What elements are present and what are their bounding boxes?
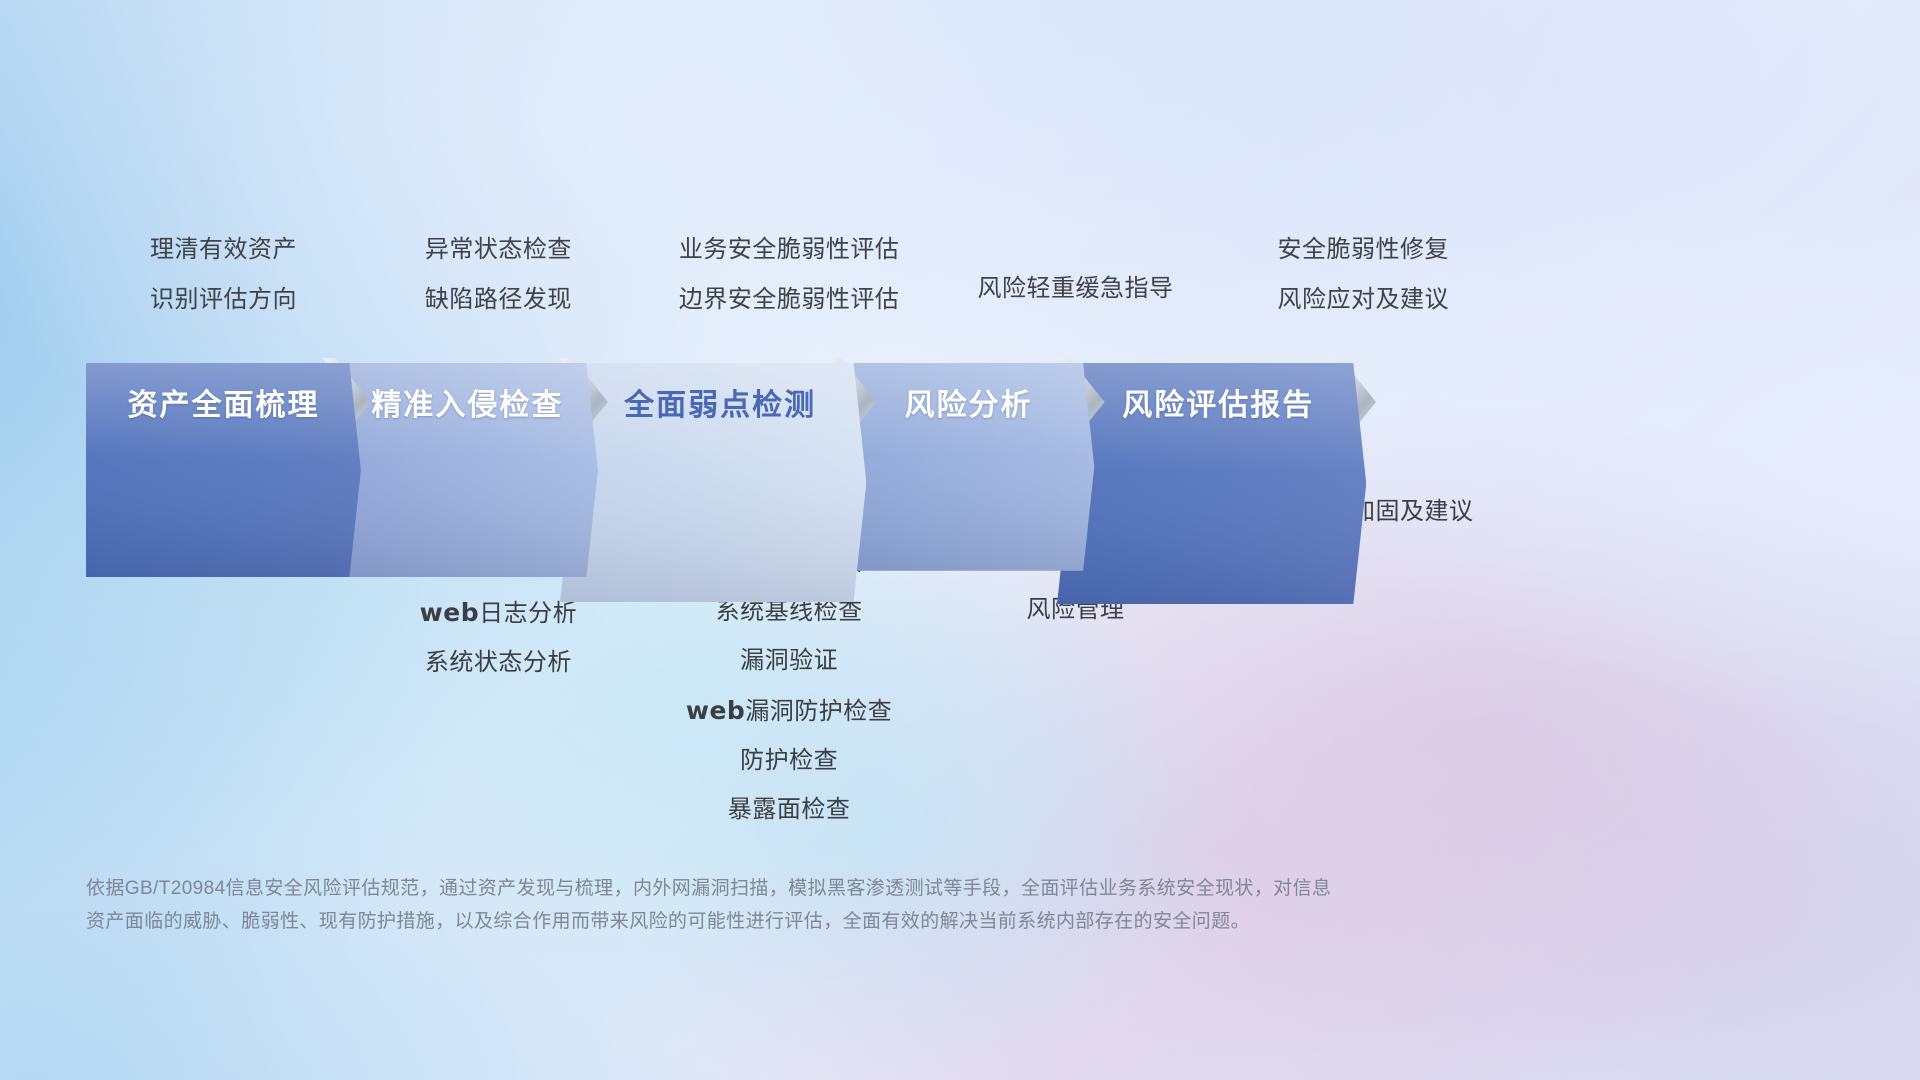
process-arrow-band: 资产全面梳理精准入侵检查全面弱点检测风险分析风险评估报告 (86, 363, 1518, 441)
bottom-list-item: 漏洞验证 (740, 649, 838, 673)
top-caption-item: 异常状态检查 (425, 238, 572, 262)
top-caption-col-2: 异常状态检查缺陷路径发现 (361, 238, 636, 312)
top-caption-col-5: 安全脆弱性修复风险应对及建议 (1209, 238, 1518, 312)
top-caption-item: 缺陷路径发现 (425, 288, 572, 312)
stage-label: 精准入侵检查 (371, 380, 563, 424)
top-captions-row: 理清有效资产识别评估方向异常状态检查缺陷路径发现业务安全脆弱性评估边界安全脆弱性… (0, 238, 1920, 312)
process-stage-1[interactable]: 资产全面梳理 (86, 363, 361, 441)
top-caption-item: 业务安全脆弱性评估 (679, 238, 900, 262)
top-caption-item: 边界安全脆弱性评估 (679, 288, 900, 312)
top-caption-item: 理清有效资产 (150, 238, 297, 262)
top-caption-item: 安全脆弱性修复 (1278, 238, 1450, 262)
top-caption-item: 风险轻重缓急指导 (977, 277, 1173, 301)
stage-label: 风险评估报告 (1122, 380, 1314, 424)
bottom-list-item: web日志分析 (420, 600, 577, 626)
top-caption-col-1: 理清有效资产识别评估方向 (86, 238, 361, 312)
bottom-list-item: web漏洞防护检查 (686, 698, 892, 724)
bottom-list-item: 系统状态分析 (425, 651, 572, 675)
footer-line: 依据GB/T20984信息安全风险评估规范，通过资产发现与梳理，内外网漏洞扫描，… (86, 872, 1446, 905)
stage-label: 风险分析 (904, 380, 1032, 424)
footer-description: 依据GB/T20984信息安全风险评估规范，通过资产发现与梳理，内外网漏洞扫描，… (86, 872, 1446, 938)
stage-label: 资产全面梳理 (127, 380, 319, 424)
footer-line: 资产面临的威胁、脆弱性、现有防护措施，以及综合作用而带来风险的可能性进行评估，全… (86, 905, 1446, 938)
top-caption-col-4: 风险轻重缓急指导 (942, 238, 1208, 312)
bottom-list-item: 防护检查 (740, 749, 838, 773)
bottom-list-item: 系统基线检查 (716, 600, 863, 624)
bottom-list-item: 暴露面检查 (728, 798, 851, 822)
top-caption-item: 风险应对及建议 (1278, 288, 1450, 312)
top-caption-item: 识别评估方向 (150, 288, 297, 312)
stage-label: 全面弱点检测 (624, 380, 816, 424)
top-caption-col-3: 业务安全脆弱性评估边界安全脆弱性评估 (636, 238, 942, 312)
